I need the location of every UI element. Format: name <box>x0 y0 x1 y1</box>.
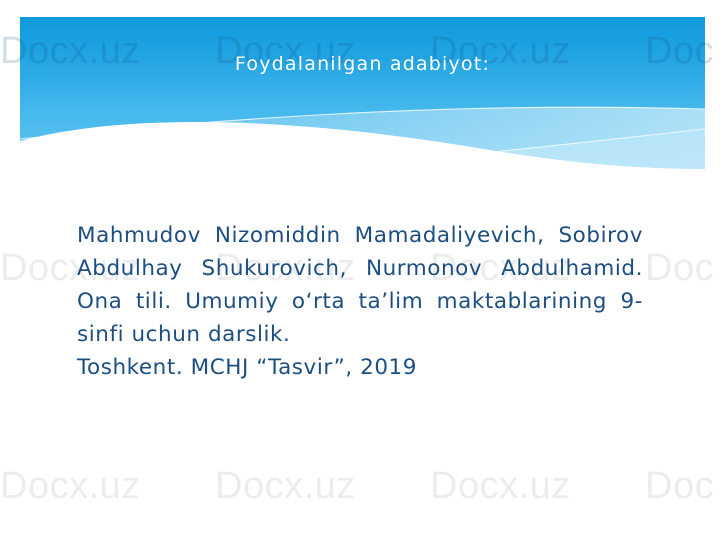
slide-body-text: Mahmudov Nizomiddin Mamadaliyevich, Sobi… <box>77 219 643 384</box>
watermark-text: Docx.uz <box>430 465 645 508</box>
slide-header-banner <box>20 17 705 169</box>
wave-shapes-svg <box>20 17 705 169</box>
banner-wave-graphic <box>20 17 705 169</box>
watermark-text: Docx.uz <box>0 465 215 508</box>
slide-title: Foydalanilgan adabiyot: <box>20 51 705 77</box>
watermark-text: Docx.uz <box>215 465 430 508</box>
watermark-text: Doc <box>645 465 720 508</box>
presentation-slide: Docx.uzDocx.uzDocx.uzDoc Docx.uzDocx.uzD… <box>0 0 720 540</box>
watermark-row: Docx.uzDocx.uzDocx.uzDoc <box>0 465 720 508</box>
reference-publisher-line: Toshkent. MCHJ “Tasvir”, 2019 <box>77 351 643 384</box>
watermark-text: Doc <box>645 247 720 290</box>
reference-paragraph: Mahmudov Nizomiddin Mamadaliyevich, Sobi… <box>77 219 643 351</box>
